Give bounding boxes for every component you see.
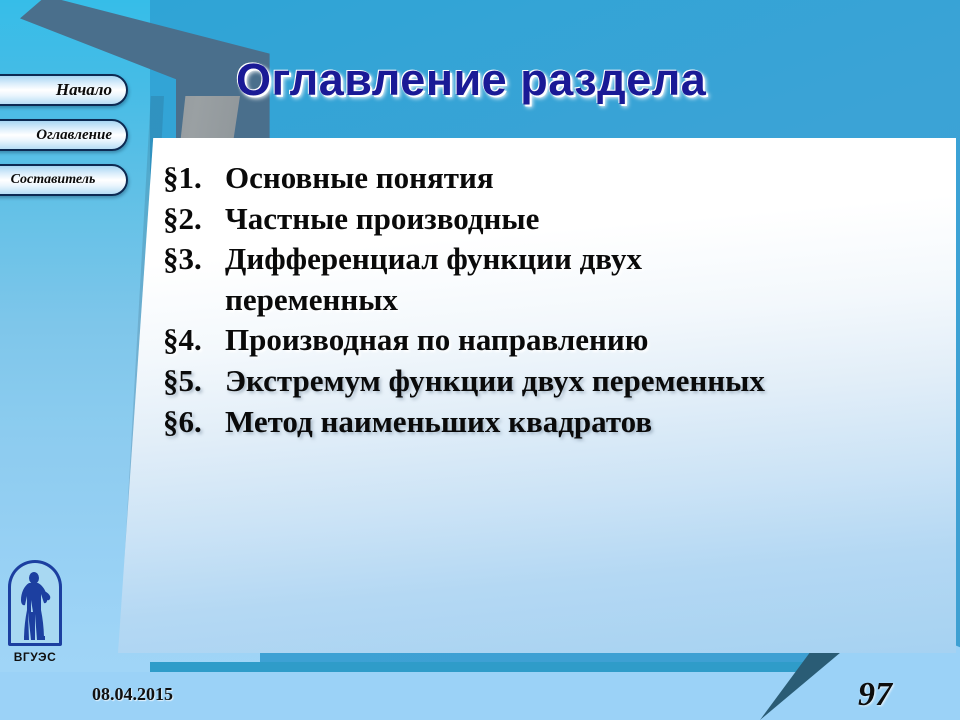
- statue-figure-glyph: [15, 570, 55, 642]
- toc-item-label: Экстремум функции двух переменных: [225, 361, 953, 402]
- slide-date: 08.04.2015: [92, 684, 173, 705]
- presentation-slide: Оглавление раздела §1. Основные понятия …: [0, 0, 960, 720]
- toc-item-label: Основные понятия: [225, 158, 953, 199]
- toc-item-label: Частные производные: [225, 199, 953, 240]
- institution-logo: ВГУЭС: [8, 560, 70, 664]
- toc-item-label: Метод наименьших квадратов: [225, 402, 953, 443]
- toc-item-label: Дифференциал функции двух: [225, 239, 953, 280]
- toc-item[interactable]: §3. Дифференциал функции двух: [163, 239, 953, 280]
- slide-page-number: 97: [858, 676, 892, 714]
- statue-figure-icon: [8, 560, 62, 646]
- institution-logo-label: ВГУЭС: [8, 650, 62, 664]
- toc-item[interactable]: §6. Метод наименьших квадратов: [163, 402, 953, 443]
- toc-item-number: §3.: [163, 239, 225, 280]
- sidebar-item-label: Начало: [56, 80, 112, 100]
- toc-item-number: §4.: [163, 320, 225, 361]
- toc-item-number: §6.: [163, 402, 225, 443]
- sidebar-item-label: Оглавление: [36, 127, 112, 144]
- toc-item[interactable]: §2. Частные производные: [163, 199, 953, 240]
- page-title: Оглавление раздела: [236, 54, 706, 106]
- toc-item[interactable]: §4. Производная по направлению: [163, 320, 953, 361]
- sidebar-item-nachalo[interactable]: Начало: [0, 74, 128, 106]
- toc-item-label: Производная по направлению: [225, 320, 953, 361]
- toc-item[interactable]: §5. Экстремум функции двух переменных: [163, 361, 953, 402]
- section-toc-list: §1. Основные понятия §2. Частные произво…: [163, 158, 953, 442]
- toc-item-wrapped-label: переменных: [225, 280, 953, 321]
- sidebar-item-label: Составитель: [11, 172, 96, 188]
- toc-item-number: §5.: [163, 361, 225, 402]
- toc-item-number: §1.: [163, 158, 225, 199]
- toc-item-continuation: переменных: [163, 280, 953, 321]
- sidebar-item-oglavlenie[interactable]: Оглавление: [0, 119, 128, 151]
- toc-item[interactable]: §1. Основные понятия: [163, 158, 953, 199]
- sidebar-item-sostavitel[interactable]: Составитель: [0, 164, 128, 196]
- toc-item-number: §2.: [163, 199, 225, 240]
